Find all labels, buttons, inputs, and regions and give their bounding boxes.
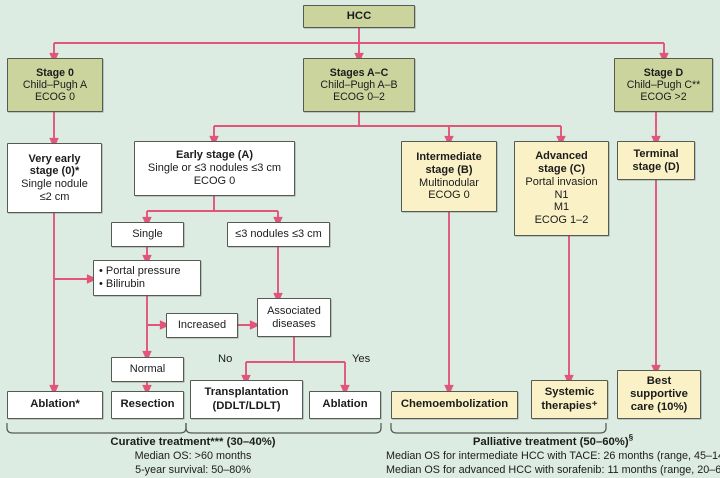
ablation-star-label: Ablation* [30,398,80,411]
edge-label-no: No [218,353,232,365]
advanced-line-2: stage (C) [538,163,585,176]
bilirubin-label: • Bilirubin [99,278,145,291]
intermediate-line-2: stage (B) [425,164,472,177]
curative-line-1: Median OS: >60 months [0,449,386,463]
terminal-line-2: stage (D) [632,161,679,174]
single-label: Single [132,228,163,241]
node-stage-d[interactable]: Stage D Child–Pugh C** ECOG >2 [614,58,713,112]
early-line-2: Single or ≤3 nodules ≤3 cm [148,162,281,175]
advanced-line-3: Portal invasion [525,176,597,189]
stages-ac-line-1: Stages A–C [330,67,388,79]
palliative-line-2: Median OS for advanced HCC with sorafeni… [386,463,720,477]
node-terminal-stage-d[interactable]: Terminal stage (D) [617,141,695,180]
stage-d-line-2: Child–Pugh C** [627,79,701,91]
diagram-canvas: HCC Stage 0 Child–Pugh A ECOG 0 Stages A… [0,0,720,478]
stage-0-line-2: Child–Pugh A [23,79,87,91]
curative-title: Curative treatment*** (30–40%) [0,435,386,449]
palliative-title-sup: § [629,433,634,442]
node-increased[interactable]: Increased [166,313,238,338]
curative-line-2: 5-year survival: 50–80% [0,463,386,477]
systemic-line-2: therapies⁺ [541,400,597,413]
three-nodules-label: ≤3 nodules ≤3 cm [235,228,322,241]
very-early-line-1: Very early [29,153,81,166]
early-line-3: ECOG 0 [194,175,236,188]
stage-0-line-1: Stage 0 [36,67,74,79]
terminal-line-1: Terminal [633,148,678,161]
node-intermediate-stage-b[interactable]: Intermediate stage (B) Multinodular ECOG… [401,141,497,212]
stages-ac-line-3: ECOG 0–2 [333,91,385,103]
node-hcc-label: HCC [347,10,371,23]
node-stage-0[interactable]: Stage 0 Child–Pugh A ECOG 0 [7,58,103,112]
node-normal[interactable]: Normal [111,357,184,382]
portal-pressure-label: • Portal pressure [99,265,181,278]
node-advanced-stage-c[interactable]: Advanced stage (C) Portal invasion N1 M1… [514,141,609,236]
best-supportive-line-1: Best [647,375,672,388]
node-three-nodules[interactable]: ≤3 nodules ≤3 cm [227,222,330,247]
best-supportive-line-2: supportive [630,388,688,401]
caption-palliative: Palliative treatment (50–60%)§ Median OS… [386,435,720,478]
early-line-1: Early stage (A) [176,149,253,162]
transplantation-line-2: (DDLT/LDLT) [213,400,281,413]
very-early-line-4: ≤2 cm [40,191,70,204]
node-portal-pressure-bilirubin[interactable]: • Portal pressure • Bilirubin [93,260,201,296]
node-transplantation[interactable]: Transplantation (DDLT/LDLT) [190,380,303,419]
caption-curative: Curative treatment*** (30–40%) Median OS… [0,435,386,478]
intermediate-line-1: Intermediate [416,151,481,164]
advanced-line-4: N1 [554,189,568,202]
associated-diseases-line-2: diseases [272,318,315,331]
stage-d-line-1: Stage D [644,67,683,79]
transplantation-line-1: Transplantation [204,386,288,399]
edge-label-yes: Yes [352,353,370,365]
node-systemic-therapies[interactable]: Systemic therapies⁺ [531,380,608,419]
advanced-line-5: M1 [554,201,569,214]
resection-label: Resection [121,398,175,411]
intermediate-line-3: Multinodular [419,177,479,190]
node-best-supportive-care[interactable]: Best supportive care (10%) [617,370,701,419]
very-early-line-3: Single nodule [21,178,88,191]
node-single[interactable]: Single [111,222,184,247]
node-hcc[interactable]: HCC [303,5,415,28]
node-very-early-stage[interactable]: Very early stage (0)* Single nodule ≤2 c… [7,143,102,213]
palliative-title: Palliative treatment (50–60%)§ [386,435,720,449]
node-stages-a-c[interactable]: Stages A–C Child–Pugh A–B ECOG 0–2 [303,58,415,112]
palliative-line-1: Median OS for intermediate HCC with TACE… [386,449,720,463]
node-ablation[interactable]: Ablation [309,391,381,419]
node-chemoembolization[interactable]: Chemoembolization [391,391,518,419]
best-supportive-line-3: care (10%) [631,401,688,414]
node-resection[interactable]: Resection [111,391,184,419]
advanced-line-1: Advanced [535,150,588,163]
increased-label: Increased [178,319,226,332]
node-associated-diseases[interactable]: Associated diseases [257,298,331,337]
stage-0-line-3: ECOG 0 [35,91,75,103]
ablation-label: Ablation [322,398,367,411]
intermediate-line-4: ECOG 0 [428,189,470,202]
systemic-line-1: Systemic [545,386,595,399]
advanced-line-6: ECOG 1–2 [535,214,589,227]
palliative-title-main: Palliative treatment (50–60%) [473,436,629,448]
associated-diseases-line-1: Associated [267,305,321,318]
normal-label: Normal [130,363,165,376]
node-early-stage-a[interactable]: Early stage (A) Single or ≤3 nodules ≤3 … [134,141,295,196]
very-early-line-2: stage (0)* [30,165,80,178]
stage-d-line-3: ECOG >2 [640,91,686,103]
chemoembolization-label: Chemoembolization [401,398,508,411]
node-ablation-star[interactable]: Ablation* [7,391,103,419]
stages-ac-line-2: Child–Pugh A–B [320,79,397,91]
